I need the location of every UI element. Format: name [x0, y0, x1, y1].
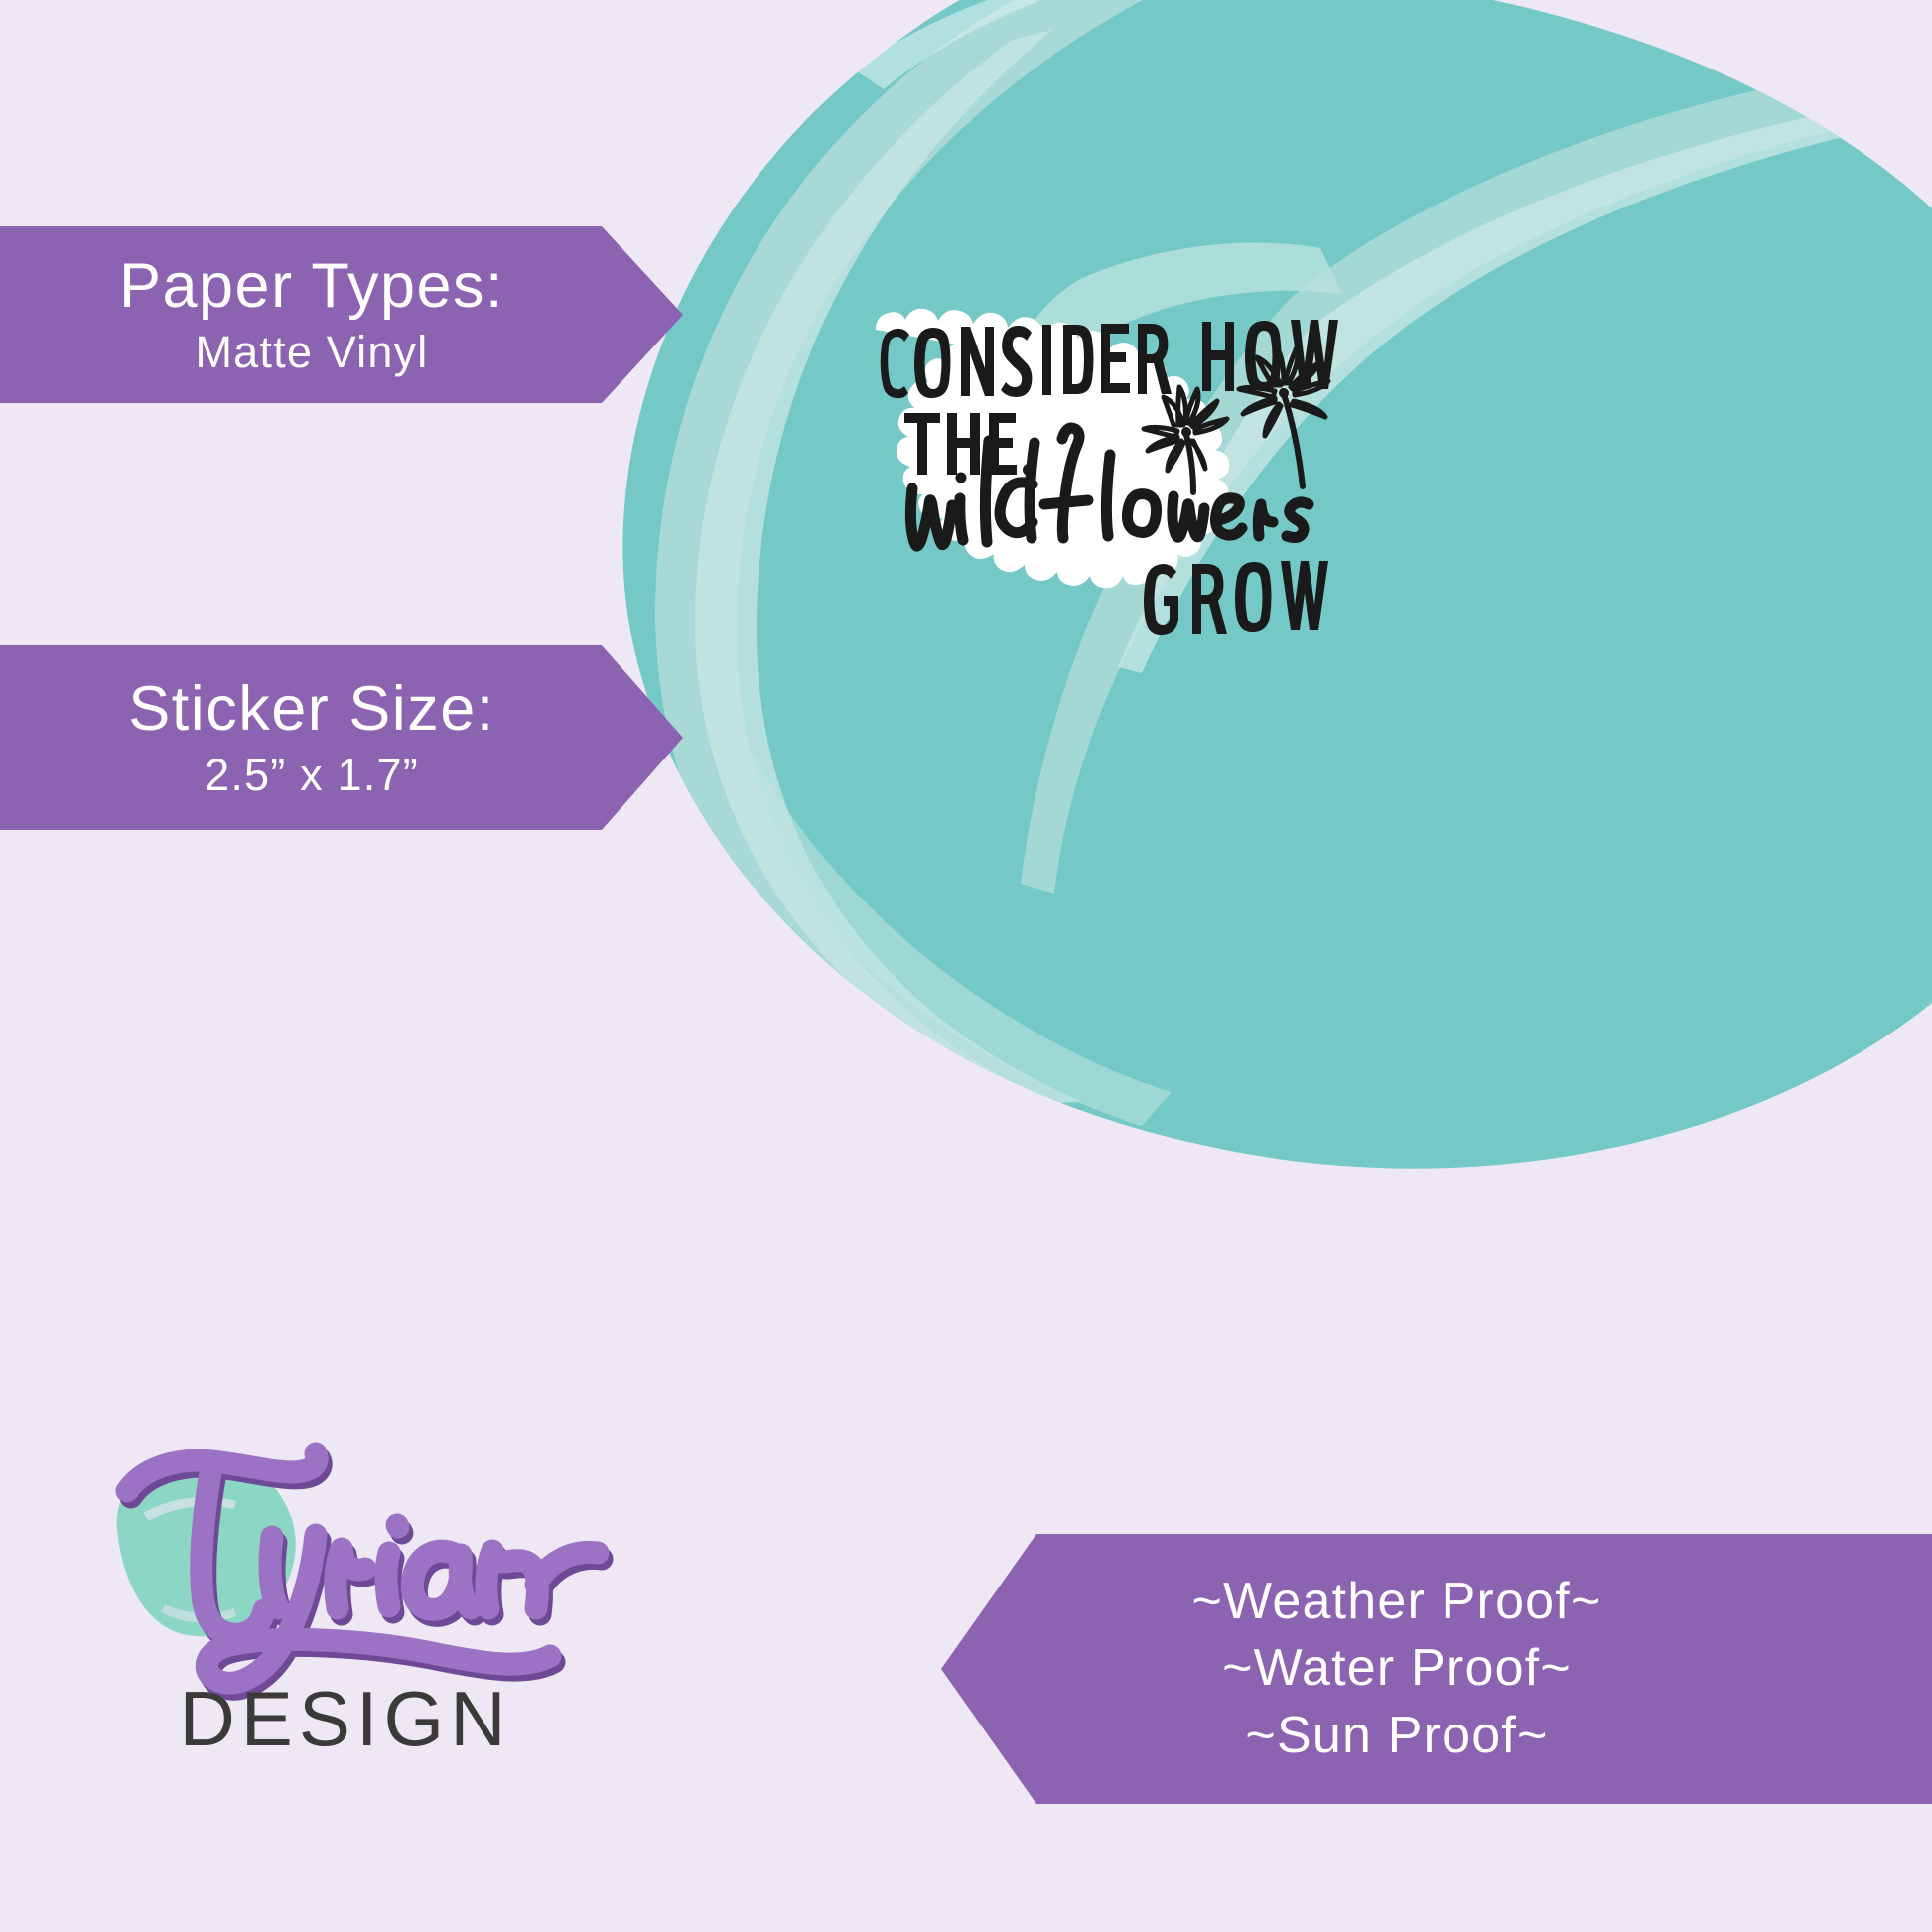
- sticker-full-text: CONSIDER HOW THE WILDFLOWERS GROW: [850, 274, 1192, 278]
- banner-proof-claims: ~Weather Proof~ ~Water Proof~ ~Sun Proof…: [941, 1534, 1932, 1804]
- paper-types-value: Matte Vinyl: [196, 327, 429, 378]
- tyrian-design-logo: DESIGN: [87, 1410, 643, 1767]
- proof-claim-weather: ~Weather Proof~: [1191, 1569, 1601, 1636]
- paper-types-title: Paper Types:: [119, 251, 504, 322]
- sticker-size-title: Sticker Size:: [128, 674, 495, 745]
- proof-claim-sun: ~Sun Proof~: [1245, 1703, 1548, 1770]
- logo-wordmark-design: DESIGN: [179, 1675, 511, 1762]
- sticker-artwork: CONSIDER HOW THE WILDFLOWERS GROW: [850, 274, 1376, 649]
- sticker-word-grow: [1144, 561, 1328, 635]
- banner-paper-types: Paper Types: Matte Vinyl: [0, 226, 683, 403]
- proof-claim-water: ~Water Proof~: [1222, 1635, 1572, 1703]
- logo-script-tyrian: [127, 1453, 602, 1689]
- product-listing-canvas: Paper Types: Matte Vinyl Sticker Size: 2…: [0, 0, 1932, 1932]
- banner-sticker-size: Sticker Size: 2.5” x 1.7”: [0, 645, 683, 830]
- sticker-size-value: 2.5” x 1.7”: [205, 750, 419, 801]
